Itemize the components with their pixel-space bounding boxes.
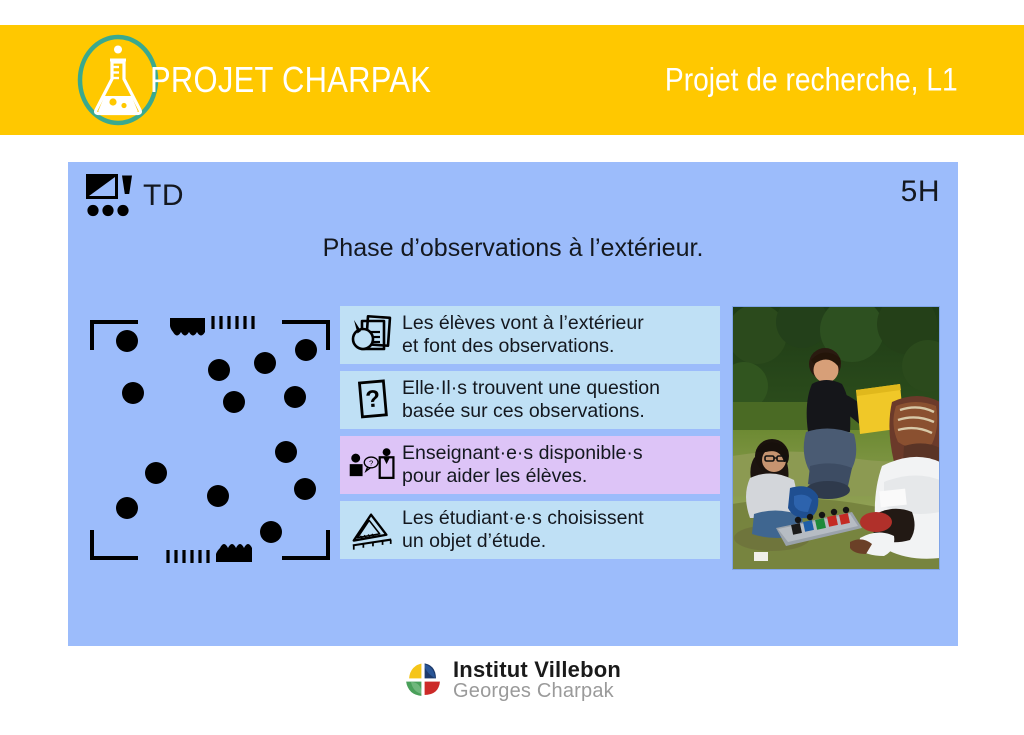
outdoor-observation-frame-pattern	[80, 304, 340, 576]
footer-institute-subname: Georges Charpak	[453, 681, 621, 701]
footer-institute-name: Institut Villebon	[453, 659, 621, 681]
presentation-warning-icon	[86, 174, 134, 218]
list-item[interactable]: ? Elle·Il·s trouvent une question basée …	[340, 371, 720, 429]
footer-text-block: Institut Villebon Georges Charpak	[453, 659, 621, 702]
students-observing-outdoors-photo	[732, 306, 940, 570]
list-item[interactable]: ? Enseignant·e·s disponible·s pour aider…	[340, 436, 720, 494]
svg-text:?: ?	[369, 458, 373, 467]
ruler-set-square-icon	[348, 506, 396, 554]
session-type-group: TD	[86, 174, 184, 218]
brand-title: PROJET CHARPAK	[150, 59, 431, 101]
list-item-label: Les étudiant·e·s choisissent un objet d’…	[402, 507, 644, 553]
header-band: PROJET CHARPAK Projet de recherche, L1	[0, 25, 1024, 135]
steps-list: Les élèves vont à l’extérieur et font de…	[340, 306, 720, 566]
header-subtitle: Projet de recherche, L1	[665, 62, 958, 99]
villebon-pinwheel-logo	[403, 660, 443, 700]
list-item[interactable]: Les élèves vont à l’extérieur et font de…	[340, 306, 720, 364]
question-document-icon: ?	[348, 376, 396, 424]
duration-badge: 5H	[901, 175, 940, 209]
session-type-label: TD	[143, 181, 184, 211]
footer-logo: Institut Villebon Georges Charpak	[0, 652, 1024, 708]
slide-panel: TD 5H Phase d’observations à l’extérieur…	[68, 162, 958, 646]
list-item-label: Elle·Il·s trouvent une question basée su…	[402, 377, 660, 423]
list-item-label: Les élèves vont à l’extérieur et font de…	[402, 312, 644, 358]
svg-text:?: ?	[364, 385, 381, 413]
list-item[interactable]: Les étudiant·e·s choisissent un objet d’…	[340, 501, 720, 559]
brand-block: PROJET CHARPAK	[72, 34, 477, 126]
panel-topbar: TD 5H	[86, 174, 940, 222]
list-item-label: Enseignant·e·s disponible·s pour aider l…	[402, 442, 643, 488]
teacher-question-person-icon: ?	[348, 441, 396, 489]
magnifier-documents-icon	[348, 311, 396, 359]
page-title: Phase d’observations à l’extérieur.	[68, 234, 958, 263]
